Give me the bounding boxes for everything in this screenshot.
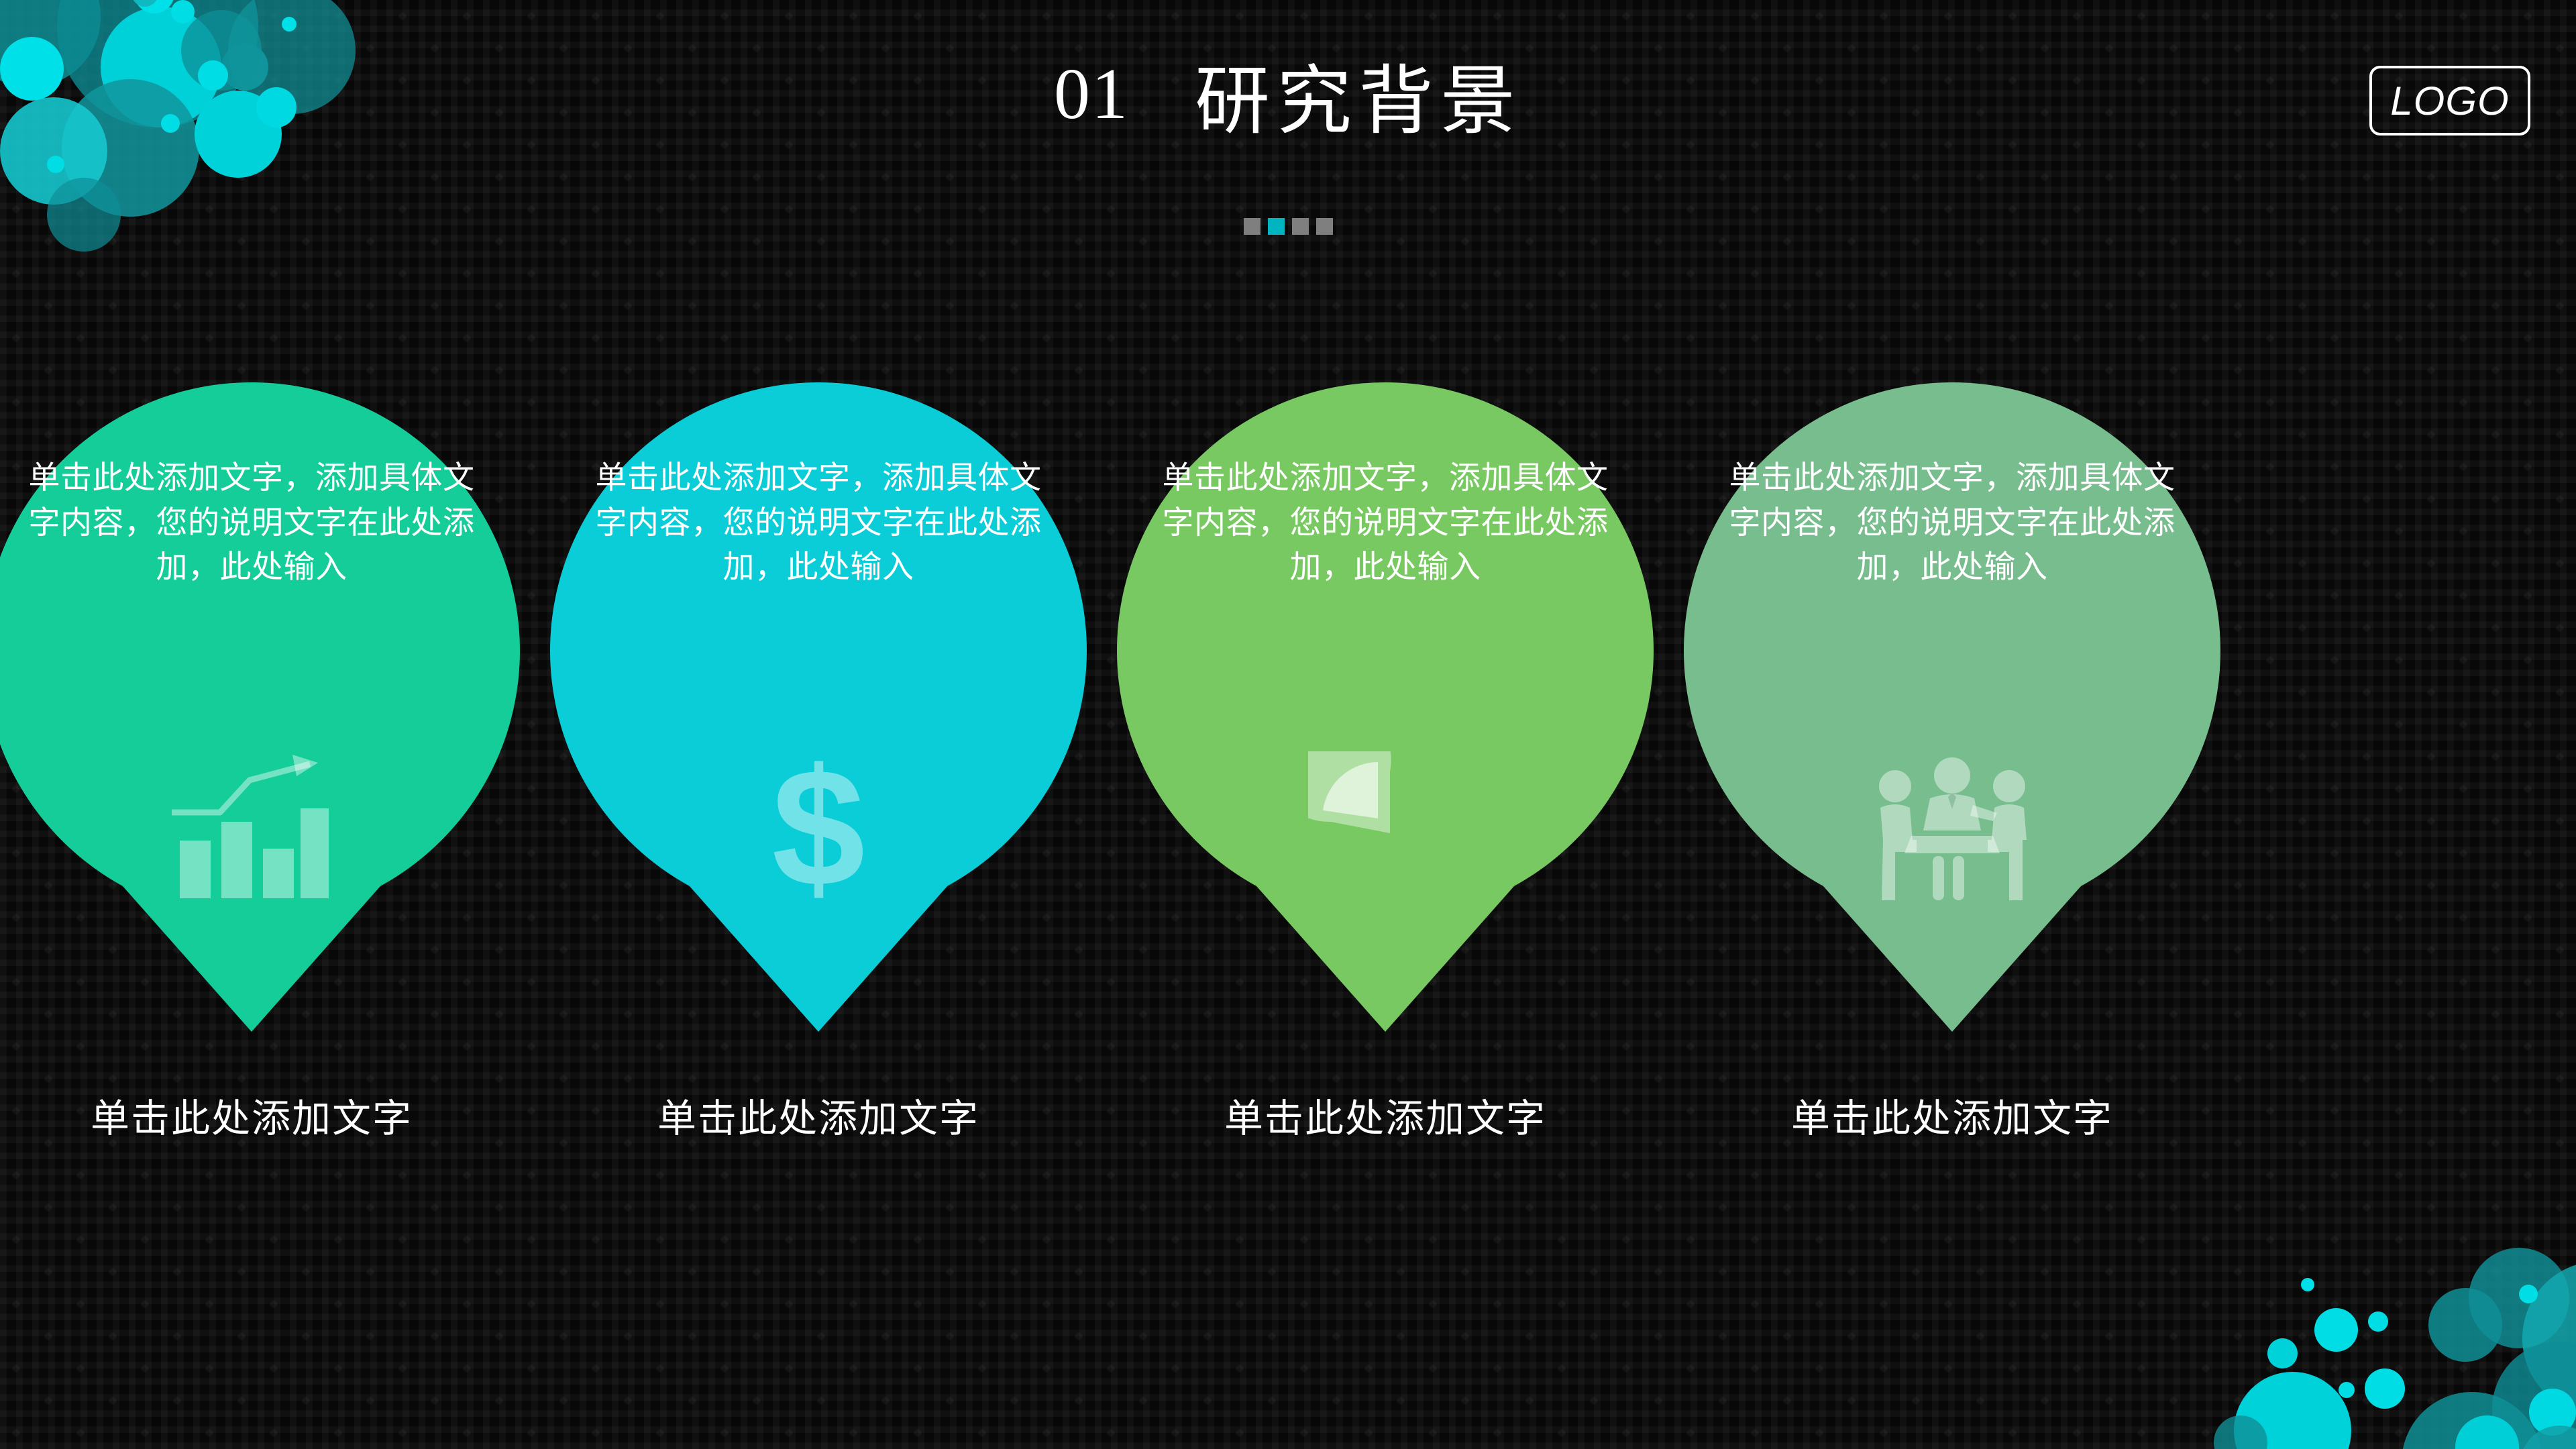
progress-dot-4[interactable]: [1316, 218, 1333, 235]
pie-chart-icon: [1110, 741, 1660, 916]
balloon-card-4[interactable]: 单击此处添加文字，添加具体文字内容，您的说明文字在此处添加，此处输入单击此处添加…: [1677, 376, 2227, 1221]
slide-canvas: 01 研究背景 LOGO 单击此处添加文字，添加具体文字内容，您的说明文字在此处…: [0, 0, 2576, 1449]
slide-header: 01 研究背景 LOGO: [0, 0, 2576, 255]
balloon-text-block-1[interactable]: 单击此处添加文字，添加具体文字内容，您的说明文字在此处添加，此处输入: [17, 456, 486, 745]
balloon-caption-1[interactable]: 单击此处添加文字: [0, 1087, 527, 1143]
balloon-caption-4[interactable]: 单击此处添加文字: [1677, 1087, 2227, 1143]
balloon-body-text: 单击此处添加文字，添加具体文字内容，您的说明文字在此处添加，此处输入: [20, 456, 483, 590]
balloon-body-text: 单击此处添加文字，添加具体文字内容，您的说明文字在此处添加，此处输入: [1154, 456, 1617, 590]
balloon-text-block-2[interactable]: 单击此处添加文字，添加具体文字内容，您的说明文字在此处添加，此处输入: [584, 456, 1053, 745]
logo-label: LOGO: [2390, 78, 2509, 124]
section-number: 01: [1054, 54, 1129, 134]
balloon-text-block-4[interactable]: 单击此处添加文字，添加具体文字内容，您的说明文字在此处添加，此处输入: [1717, 456, 2187, 745]
balloon-caption-3[interactable]: 单击此处添加文字: [1110, 1087, 1660, 1143]
balloon-card-1[interactable]: 单击此处添加文字，添加具体文字内容，您的说明文字在此处添加，此处输入单击此处添加…: [0, 376, 527, 1221]
progress-dots[interactable]: [0, 218, 2576, 235]
meeting-people-icon: [1677, 741, 2227, 916]
progress-dot-1[interactable]: [1244, 218, 1260, 235]
section-title: 研究背景: [1195, 60, 1522, 144]
logo-placeholder[interactable]: LOGO: [2369, 66, 2530, 136]
balloon-body-text: 单击此处添加文字，添加具体文字内容，您的说明文字在此处添加，此处输入: [587, 456, 1050, 590]
balloon-body-text: 单击此处添加文字，添加具体文字内容，您的说明文字在此处添加，此处输入: [1721, 456, 2184, 590]
progress-dot-2[interactable]: [1268, 218, 1285, 235]
balloon-card-row: 单击此处添加文字，添加具体文字内容，您的说明文字在此处添加，此处输入单击此处添加…: [0, 376, 2576, 1221]
balloon-card-2[interactable]: 单击此处添加文字，添加具体文字内容，您的说明文字在此处添加，此处输入$单击此处添…: [543, 376, 1093, 1221]
bar-chart-growth-icon: [0, 741, 527, 916]
dollar-sign-icon: $: [543, 741, 1093, 916]
balloon-card-3[interactable]: 单击此处添加文字，添加具体文字内容，您的说明文字在此处添加，此处输入单击此处添加…: [1110, 376, 1660, 1221]
balloon-caption-2[interactable]: 单击此处添加文字: [543, 1087, 1093, 1143]
svg-text:$: $: [771, 748, 865, 909]
page-title: 01 研究背景: [0, 40, 2576, 149]
balloon-text-block-3[interactable]: 单击此处添加文字，添加具体文字内容，您的说明文字在此处添加，此处输入: [1150, 456, 1620, 745]
progress-dot-3[interactable]: [1292, 218, 1309, 235]
